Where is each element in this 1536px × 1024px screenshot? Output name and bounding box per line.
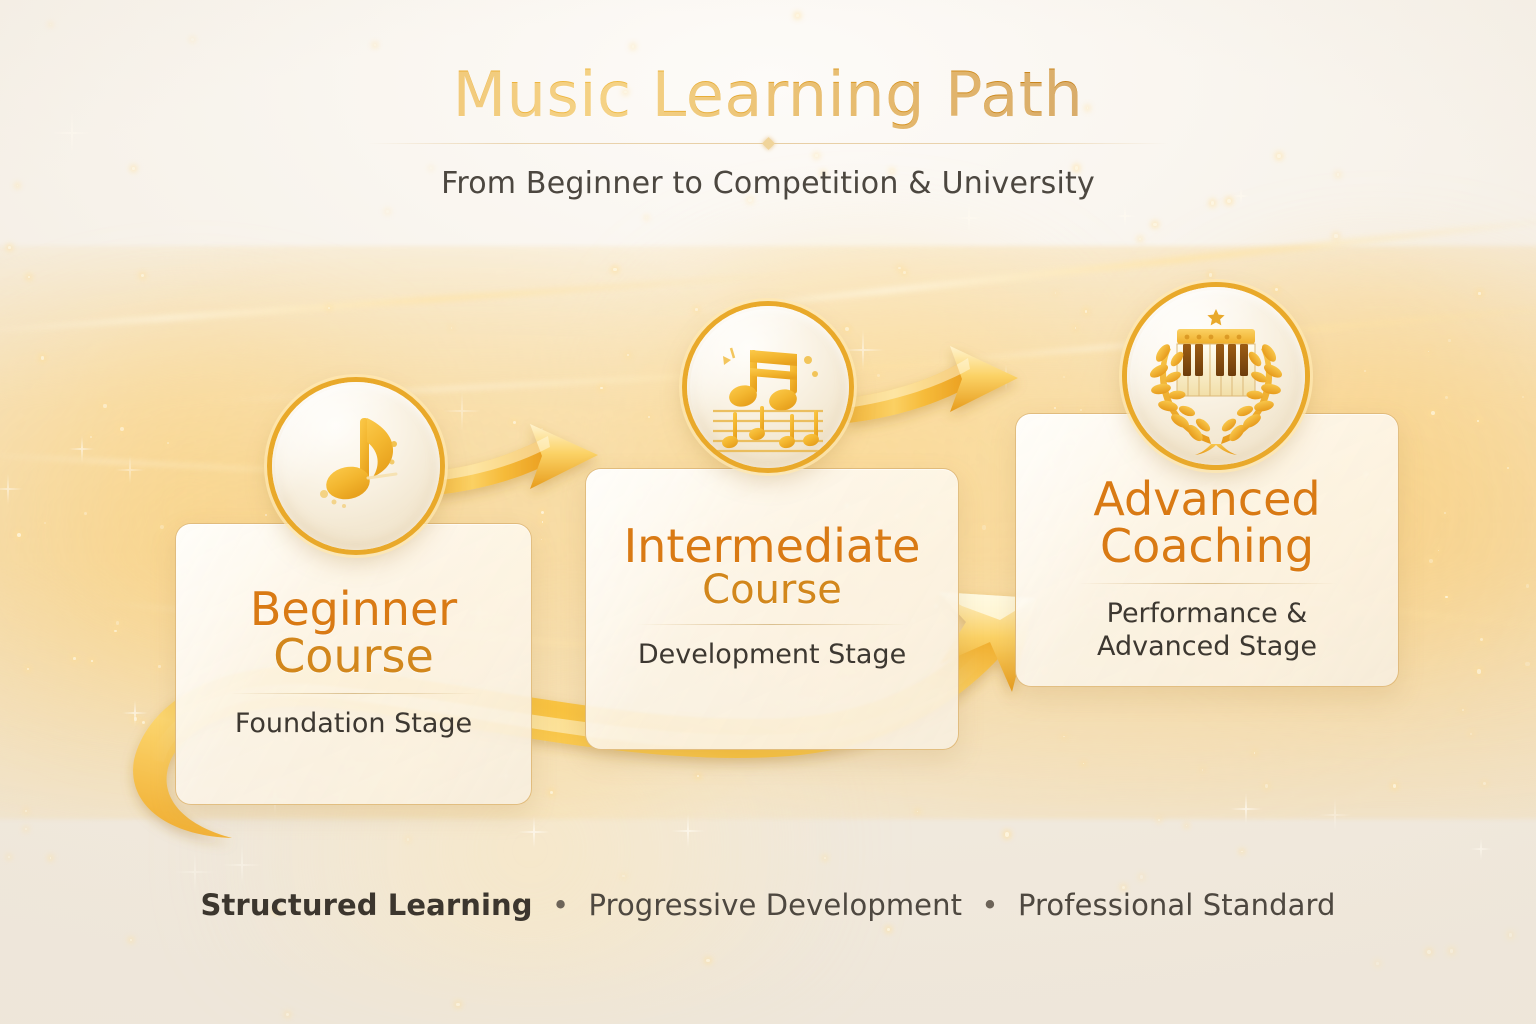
- stage-subtitle-line1: Foundation Stage: [235, 708, 472, 739]
- stage-badge-intermediate[interactable]: [687, 306, 849, 468]
- footer-item-3: Professional Standard: [1018, 888, 1336, 922]
- stage-title-beginner: Beginner Course: [176, 586, 531, 681]
- stage-subtitle-line1: Development Stage: [638, 639, 906, 670]
- stage-badge-advanced[interactable]: [1127, 287, 1305, 465]
- stage-title-line2: Coaching: [1016, 523, 1398, 570]
- stage-title-advanced: Advanced Coaching: [1016, 476, 1398, 571]
- stage-title-line2: Course: [586, 570, 958, 611]
- music-staff-notes-icon: [687, 306, 849, 468]
- stage-card-intermediate[interactable]: Intermediate Course Development Stage: [585, 468, 959, 750]
- music-note-icon: [272, 382, 440, 550]
- footer-item-1: Structured Learning: [200, 888, 532, 922]
- card-divider: [229, 693, 479, 694]
- arrow-beginner-to-intermediate: [424, 424, 598, 496]
- card-divider: [1077, 583, 1337, 584]
- stage-subtitle-line1: Performance &: [1107, 598, 1308, 629]
- arrow-intermediate-to-advanced: [846, 346, 1018, 423]
- stage-card-beginner[interactable]: Beginner Course Foundation Stage: [175, 523, 532, 805]
- stage-title-line1: Intermediate: [586, 523, 958, 570]
- footer-separator-2: •: [971, 888, 1008, 922]
- footer-item-2: Progressive Development: [589, 888, 963, 922]
- footer-separator-1: •: [542, 888, 579, 922]
- stage-title-line2: Course: [176, 633, 531, 680]
- card-divider: [636, 624, 908, 625]
- stage-subtitle-intermediate: Development Stage: [586, 639, 958, 672]
- stage-subtitle-beginner: Foundation Stage: [176, 708, 531, 741]
- stage-subtitle-advanced: Performance & Advanced Stage: [1016, 598, 1398, 664]
- piano-laurel-icon: [1127, 287, 1305, 465]
- infographic-canvas: Music Learning Path From Beginner to Com…: [0, 0, 1536, 1024]
- stage-subtitle-line2: Advanced Stage: [1016, 631, 1398, 664]
- stage-title-line1: Advanced: [1016, 476, 1398, 523]
- stage-title-intermediate: Intermediate Course: [586, 523, 958, 612]
- stage-title-line1: Beginner: [176, 586, 531, 633]
- footer-tagline: Structured Learning • Progressive Develo…: [0, 888, 1536, 922]
- stage-badge-beginner[interactable]: [272, 382, 440, 550]
